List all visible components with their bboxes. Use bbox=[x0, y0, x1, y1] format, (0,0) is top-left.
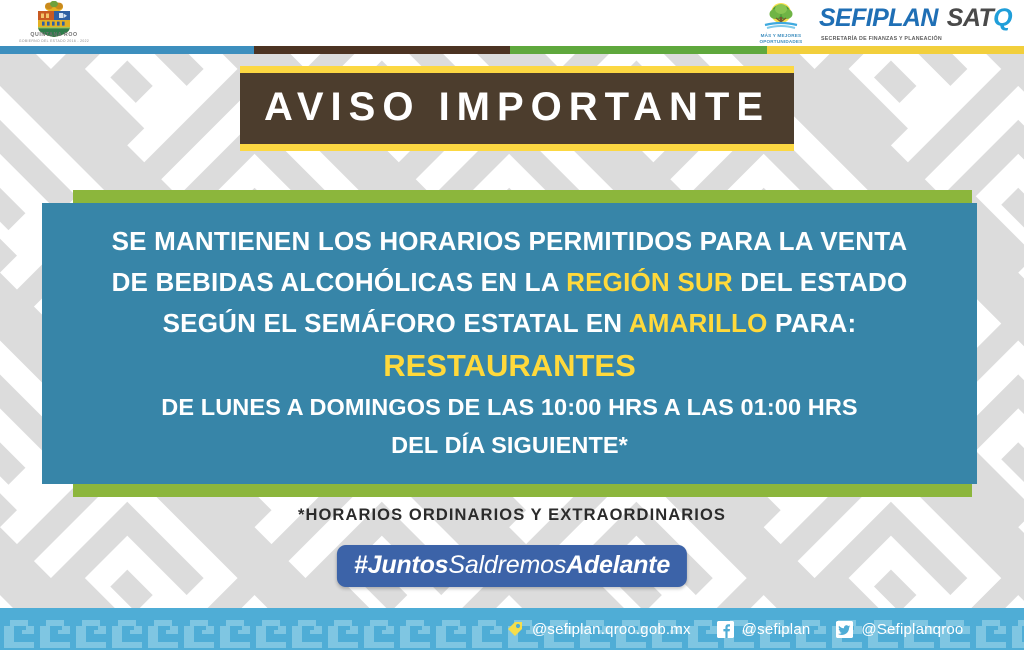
hashtag-part-2: Saldremos bbox=[448, 551, 566, 579]
notice-line-3-a: SEGÚN EL SEMÁFORO ESTATAL EN bbox=[163, 308, 629, 338]
social-twitter[interactable]: @Sefiplanqroo bbox=[836, 621, 963, 638]
footer-social-links: @sefiplan.qroo.gob.mx @sefiplan bbox=[506, 620, 963, 638]
notice-line-3-highlight: AMARILLO bbox=[629, 308, 768, 338]
panel-accent-bar-bottom bbox=[73, 484, 972, 497]
poster-canvas: QUINTANA ROO GOBIERNO DEL ESTADO 2016 - … bbox=[0, 0, 1024, 650]
tagline-line-1: MÁS Y MEJORES bbox=[761, 33, 802, 38]
notice-line-5-schedule: DE LUNES A DOMINGOS DE LAS 10:00 HRS A L… bbox=[42, 388, 977, 426]
social-website[interactable]: @sefiplan.qroo.gob.mx bbox=[506, 620, 691, 638]
title-rule-bottom bbox=[240, 144, 794, 151]
hashtag-text: #JuntosSaldremosAdelante bbox=[354, 551, 670, 579]
hashtag-part-1: #Juntos bbox=[354, 551, 448, 579]
notice-line-6-schedule-cont: DEL DÍA SIGUIENTE* bbox=[42, 426, 977, 464]
notice-line-2-b: DEL ESTADO bbox=[733, 267, 908, 297]
color-bar-brown bbox=[254, 46, 511, 54]
header-color-bars bbox=[0, 46, 1024, 54]
page-title: AVISO IMPORTANTE bbox=[240, 73, 794, 144]
tagline-line-2: OPORTUNIDADES bbox=[759, 39, 802, 44]
page-header: QUINTANA ROO GOBIERNO DEL ESTADO 2016 - … bbox=[0, 0, 1024, 46]
sefiplan-subtitle: SECRETARÍA DE FINANZAS Y PLANEACIÓN bbox=[821, 36, 942, 42]
sat-wordmark: SATQ bbox=[947, 4, 1012, 33]
notice-line-4-establishment: RESTAURANTES bbox=[42, 344, 977, 388]
header-right-logos: MÁS Y MEJORES OPORTUNIDADES SEFIPLAN SAT… bbox=[752, 2, 1012, 44]
quintana-roo-coat-of-arms-icon: QUINTANA ROO GOBIERNO DEL ESTADO 2016 - … bbox=[16, 1, 92, 45]
notice-panel-wrapper: SE MANTIENEN LOS HORARIOS PERMITIDOS PAR… bbox=[0, 190, 1024, 497]
color-bar-yellow bbox=[767, 46, 1024, 54]
footnote-text: *HORARIOS ORDINARIOS Y EXTRAORDINARIOS bbox=[0, 506, 1024, 525]
state-logo-wordmark: QUINTANA ROO bbox=[16, 32, 92, 38]
sat-q-letter: Q bbox=[993, 4, 1012, 33]
facebook-icon bbox=[717, 621, 734, 638]
color-bar-blue bbox=[0, 46, 254, 54]
social-twitter-handle: @Sefiplanqroo bbox=[861, 621, 963, 638]
color-bar-green bbox=[510, 46, 767, 54]
hashtag-part-3: Adelante bbox=[566, 551, 670, 579]
campaign-hashtag-badge: #JuntosSaldremosAdelante bbox=[337, 545, 687, 587]
social-facebook-handle: @sefiplan bbox=[742, 621, 811, 638]
state-logo-subtitle: GOBIERNO DEL ESTADO 2016 - 2022 bbox=[16, 39, 92, 44]
notice-line-2-a: DE BEBIDAS ALCOHÓLICAS EN LA bbox=[112, 267, 567, 297]
notice-line-2: DE BEBIDAS ALCOHÓLICAS EN LA REGIÓN SUR … bbox=[42, 262, 977, 303]
notice-panel: SE MANTIENEN LOS HORARIOS PERMITIDOS PAR… bbox=[42, 203, 977, 484]
tree-graphic bbox=[752, 2, 810, 36]
social-facebook[interactable]: @sefiplan bbox=[717, 621, 811, 638]
notice-line-3: SEGÚN EL SEMÁFORO ESTATAL EN AMARILLO PA… bbox=[42, 303, 977, 344]
notice-line-2-highlight: REGIÓN SUR bbox=[566, 267, 733, 297]
twitter-icon bbox=[836, 621, 853, 638]
sefiplan-wordmark: SEFIPLAN bbox=[819, 4, 938, 33]
tree-seal-icon: MÁS Y MEJORES OPORTUNIDADES bbox=[752, 2, 810, 44]
notice-title-block: AVISO IMPORTANTE bbox=[240, 66, 794, 151]
tree-seal-tagline: MÁS Y MEJORES OPORTUNIDADES bbox=[752, 33, 810, 44]
sefiplan-sat-lockup: SEFIPLAN SATQ SECRETARÍA DE FINANZAS Y P… bbox=[819, 4, 1012, 42]
page-footer: @sefiplan.qroo.gob.mx @sefiplan bbox=[0, 608, 1024, 650]
notice-line-3-b: PARA: bbox=[768, 308, 857, 338]
sat-text: SAT bbox=[947, 4, 993, 32]
social-website-handle: @sefiplan.qroo.gob.mx bbox=[532, 621, 691, 638]
title-rule-top bbox=[240, 66, 794, 73]
panel-accent-bar-top bbox=[73, 190, 972, 203]
notice-line-1: SE MANTIENEN LOS HORARIOS PERMITIDOS PAR… bbox=[42, 221, 977, 262]
web-tag-icon bbox=[506, 620, 524, 638]
